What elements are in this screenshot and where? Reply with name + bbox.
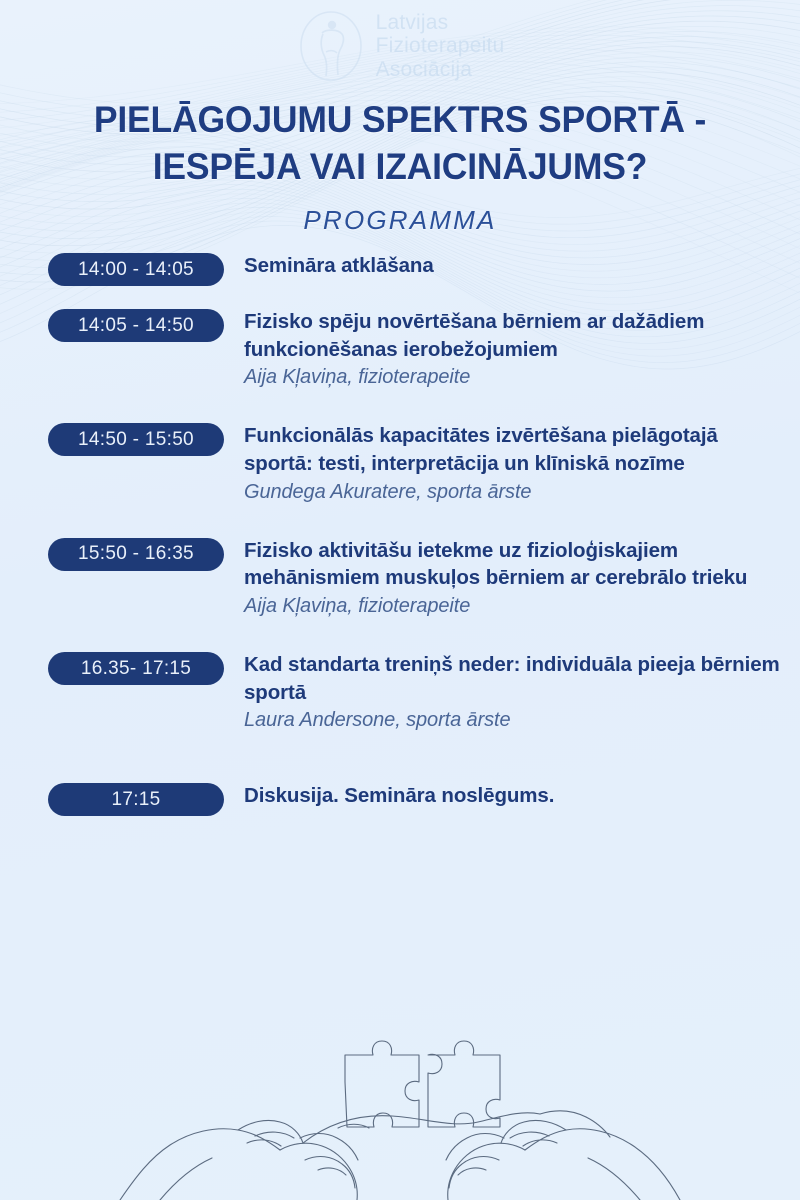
- schedule-item: 14:50 - 15:50 Funkcionālās kapacitātes i…: [0, 422, 800, 505]
- time-badge: 17:15: [48, 783, 224, 816]
- session-speaker: Laura Andersone, sporta ārste: [244, 707, 782, 734]
- time-badge: 16.35- 17:15: [48, 652, 224, 685]
- poster-header: PIELĀGOJUMU SPEKTRS SPORTĀ - IESPĒJA VAI…: [0, 96, 800, 236]
- schedule-item-body: Fizisko aktivitāšu ietekme uz fizioloģis…: [224, 537, 782, 620]
- schedule-item: 16.35- 17:15 Kad standarta treniņš neder…: [0, 651, 800, 734]
- poster: Latvijas Fizioterapeitu Asociācija PIELĀ…: [0, 0, 800, 1200]
- hands-holding-puzzle-pieces-icon: [0, 1010, 800, 1200]
- organization-logo: Latvijas Fizioterapeitu Asociācija: [0, 4, 800, 88]
- session-title: Funkcionālās kapacitātes izvērtēšana pie…: [244, 422, 782, 477]
- time-badge: 14:00 - 14:05: [48, 253, 224, 286]
- session-title: Kad standarta treniņš neder: individuāla…: [244, 651, 782, 706]
- session-speaker: Aija Kļaviņa, fizioterapeite: [244, 364, 782, 391]
- physiotherapy-figure-logo-icon: [296, 9, 366, 83]
- schedule-list: 14:00 - 14:05 Semināra atklāšana 14:05 -…: [0, 252, 800, 816]
- schedule-item-body: Semināra atklāšana: [224, 252, 782, 280]
- schedule-item-body: Kad standarta treniņš neder: individuāla…: [224, 651, 782, 734]
- session-title: Semināra atklāšana: [244, 252, 782, 280]
- session-title: Fizisko aktivitāšu ietekme uz fizioloģis…: [244, 537, 782, 592]
- time-badge: 14:05 - 14:50: [48, 309, 224, 342]
- page-title-line2: IESPĒJA VAI IZAICINĀJUMS?: [153, 146, 648, 187]
- page-subtitle: PROGRAMMA: [0, 205, 800, 236]
- time-badge: 14:50 - 15:50: [48, 423, 224, 456]
- session-speaker: Aija Kļaviņa, fizioterapeite: [244, 593, 782, 620]
- page-title-line1: PIELĀGOJUMU SPEKTRS SPORTĀ -: [94, 99, 706, 140]
- organization-name: Latvijas Fizioterapeitu Asociācija: [376, 11, 505, 82]
- session-speaker: Gundega Akuratere, sporta ārste: [244, 479, 782, 506]
- schedule-item-body: Fizisko spēju novērtēšana bērniem ar daž…: [224, 308, 782, 391]
- schedule-item-body: Diskusija. Semināra noslēgums.: [224, 782, 782, 810]
- schedule-item: 17:15 Diskusija. Semināra noslēgums.: [0, 782, 800, 816]
- schedule-item: 14:05 - 14:50 Fizisko spēju novērtēšana …: [0, 308, 800, 391]
- session-title: Diskusija. Semināra noslēgums.: [244, 782, 782, 810]
- schedule-item: 15:50 - 16:35 Fizisko aktivitāšu ietekme…: [0, 537, 800, 620]
- page-title: PIELĀGOJUMU SPEKTRS SPORTĀ - IESPĒJA VAI…: [16, 96, 784, 191]
- session-title: Fizisko spēju novērtēšana bērniem ar daž…: [244, 308, 782, 363]
- time-badge: 15:50 - 16:35: [48, 538, 224, 571]
- schedule-item-body: Funkcionālās kapacitātes izvērtēšana pie…: [224, 422, 782, 505]
- schedule-item: 14:00 - 14:05 Semināra atklāšana: [0, 252, 800, 286]
